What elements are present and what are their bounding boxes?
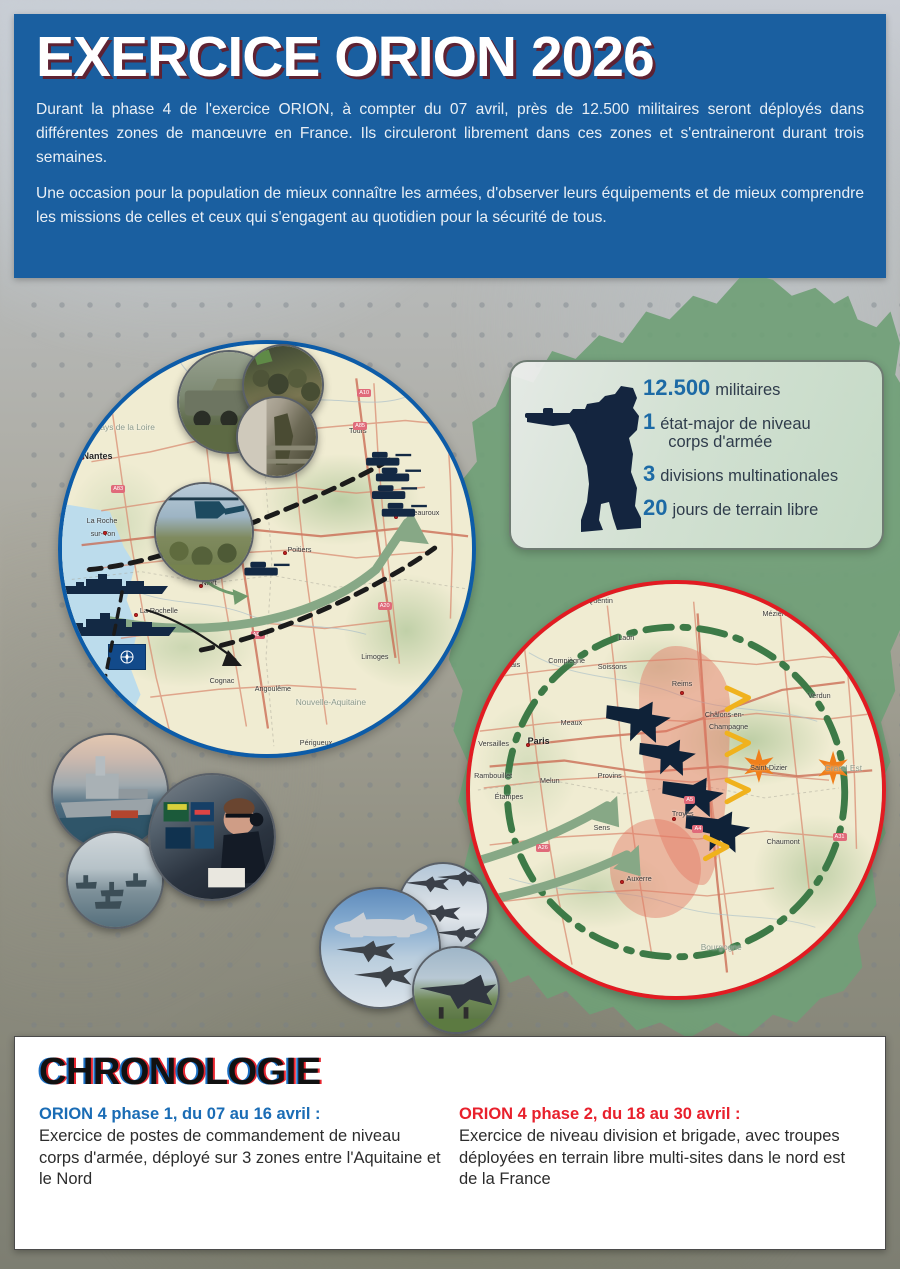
stat-row-divisions: 3 divisions multinationales	[643, 462, 872, 486]
motorway-badge-a5: A5	[684, 796, 695, 804]
stat-label-etat-major: état-major de niveau corps d'armée	[660, 416, 810, 452]
city-label-mezieres: Mézières	[763, 609, 792, 618]
green-advance-arrows-right	[470, 584, 882, 996]
stat-number-jours: 20	[643, 496, 667, 520]
stat-number-etat-major: 1	[643, 410, 655, 434]
photo-rafale-takeoff[interactable]	[412, 946, 500, 1034]
stat-row-militaires: 12.500 militaires	[643, 376, 872, 400]
city-label-chalons-1: Châlons-en-	[705, 710, 744, 719]
stat-label-divisions: divisions multinationales	[660, 468, 838, 486]
city-label-chaumont: Chaumont	[767, 837, 800, 846]
chronology-phase-1-body: Exercice de postes de commandement de ni…	[39, 1126, 445, 1190]
stat-label-jours: jours de terrain libre	[672, 502, 818, 520]
chronology-phase-2-heading: ORION 4 phase 2, du 18 au 30 avril :	[459, 1103, 865, 1125]
soldier-aiming-rifle-icon	[525, 380, 653, 538]
key-figures-box: 12.500 militaires 1 état-major de niveau…	[509, 360, 884, 550]
poster-root: EXERCICE ORION 2026 Durant la phase 4 de…	[0, 0, 900, 1269]
city-dot-troyes	[672, 817, 676, 821]
photo-navy-operations-room[interactable]	[148, 773, 276, 901]
stat-label-militaires: militaires	[715, 382, 780, 400]
chronology-panel: CHRONOLOGIE ORION 4 phase 1, du 07 au 16…	[14, 1036, 886, 1250]
city-label-laon: Laon	[618, 633, 634, 642]
stat-label-etat-major-line1: état-major de niveau	[660, 415, 810, 433]
city-label-verdun: Verdun	[808, 691, 831, 700]
chronology-columns: ORION 4 phase 1, du 07 au 16 avril : Exe…	[39, 1103, 865, 1191]
stat-number-divisions: 3	[643, 462, 655, 486]
city-label-versailles: Versailles	[478, 739, 509, 748]
city-label-reims: Reims	[672, 679, 692, 688]
chronology-phase-2: ORION 4 phase 2, du 18 au 30 avril : Exe…	[459, 1103, 865, 1191]
city-label-saint-dizier: Saint-Dizier	[750, 763, 787, 772]
city-label-beauvais: Beauvais	[491, 660, 521, 669]
city-label-auxerre: Auxerre	[627, 874, 652, 883]
photo-helicopter-deployment[interactable]	[154, 482, 254, 582]
region-label-grand-est: Grand Est	[824, 763, 862, 773]
map-circle-nord-est[interactable]: Saint-Quentin Mézières Laon Compiègne So…	[466, 580, 886, 1000]
city-label-rambouillet: Rambouillet	[474, 771, 512, 780]
key-figures-list: 12.500 militaires 1 état-major de niveau…	[643, 376, 872, 520]
chronology-phase-2-body: Exercice de niveau division et brigade, …	[459, 1126, 865, 1190]
naval-landing-arrow	[140, 600, 260, 680]
photo-soldier-urban-training[interactable]	[236, 396, 318, 478]
motorway-badge-a4: A4	[692, 825, 703, 833]
city-label-troyes: Troyes	[672, 809, 694, 818]
motorway-badge-a26: A26	[536, 844, 550, 852]
motorway-badge-a31: A31	[833, 833, 847, 841]
city-label-saint-quentin: Saint-Quentin	[569, 596, 613, 605]
city-label-etampes: Étampes	[495, 792, 523, 801]
banner-paragraph-2: Une occasion pour la population de mieux…	[36, 182, 864, 229]
stat-label-etat-major-line2: corps d'armée	[668, 434, 810, 452]
chronology-title: CHRONOLOGIE	[39, 1053, 865, 1091]
city-label-compiegne: Compiègne	[548, 656, 585, 665]
map-base-right: Saint-Quentin Mézières Laon Compiègne So…	[470, 584, 882, 996]
header-banner: EXERCICE ORION 2026 Durant la phase 4 de…	[14, 14, 886, 278]
stat-row-etat-major: 1 état-major de niveau corps d'armée	[643, 410, 872, 452]
map-stage: Nantes Angers Tours Pays de la Loire la …	[14, 278, 900, 1048]
city-label-paris: Paris	[528, 736, 550, 746]
city-label-provins: Provins	[598, 771, 622, 780]
region-label-bourgogne: Bourgogne	[701, 942, 742, 952]
stat-row-jours: 20 jours de terrain libre	[643, 496, 872, 520]
city-label-sens: Sens	[594, 823, 610, 832]
city-label-chalons-2: Champagne	[709, 722, 748, 731]
city-label-soissons: Soissons	[598, 662, 627, 671]
page-title: EXERCICE ORION 2026	[36, 28, 864, 86]
city-label-melun: Melun	[540, 776, 560, 785]
stat-number-militaires: 12.500	[643, 376, 710, 400]
city-dot-paris	[526, 743, 530, 747]
chronology-phase-1-heading: ORION 4 phase 1, du 07 au 16 avril :	[39, 1103, 445, 1125]
chronology-phase-1: ORION 4 phase 1, du 07 au 16 avril : Exe…	[39, 1103, 445, 1191]
banner-paragraph-1: Durant la phase 4 de l'exercice ORION, à…	[36, 98, 864, 169]
city-label-meaux: Meaux	[561, 718, 583, 727]
